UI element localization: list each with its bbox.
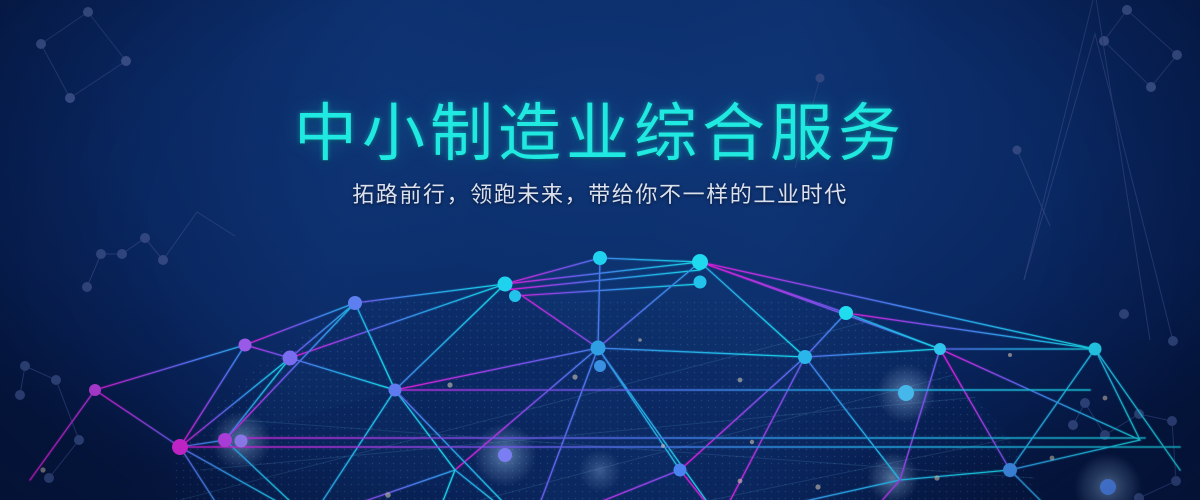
hero-banner: .cline { stroke: #2d427c; stroke-width: … — [0, 0, 1200, 500]
page-title: 中小制造业综合服务 — [0, 0, 1200, 168]
page-subtitle: 拓路前行，领跑未来，带给你不一样的工业时代 — [0, 168, 1200, 210]
hero-text-block: 中小制造业综合服务 拓路前行，领跑未来，带给你不一样的工业时代 — [0, 0, 1200, 210]
